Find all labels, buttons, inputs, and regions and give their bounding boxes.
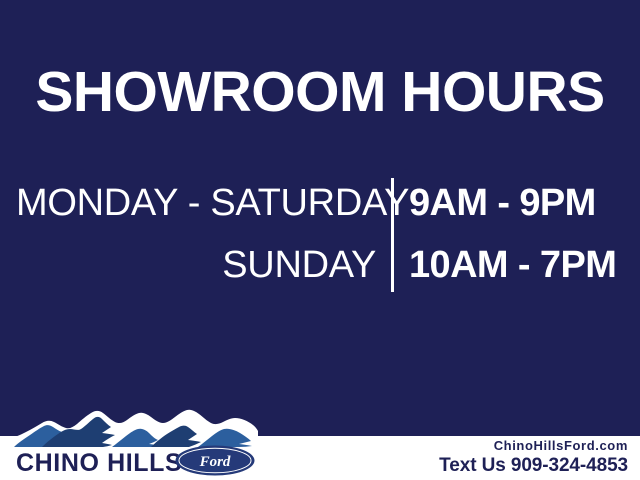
page-title: SHOWROOM HOURS	[0, 62, 640, 122]
showroom-hours-sign: SHOWROOM HOURS MONDAY - SATURDAY 9AM - 9…	[0, 0, 640, 480]
days-label: MONDAY - SATURDAY	[16, 176, 376, 232]
time-value: 9AM - 9PM	[409, 176, 634, 232]
mountain-range-icon	[8, 405, 258, 447]
website-link[interactable]: ChinoHillsFord.com	[439, 437, 628, 454]
contact-info: ChinoHillsFord.com Text Us 909-324-4853	[439, 437, 628, 478]
dealer-name: CHINO HILLS	[16, 449, 182, 477]
ford-wordmark: Ford	[199, 454, 231, 470]
table-row: SUNDAY 10AM - 7PM	[0, 238, 640, 294]
hours-table: MONDAY - SATURDAY 9AM - 9PM SUNDAY 10AM …	[0, 176, 640, 296]
phone-number[interactable]: Text Us 909-324-4853	[439, 454, 628, 478]
ford-logo-icon: Ford	[175, 445, 255, 476]
table-row: MONDAY - SATURDAY 9AM - 9PM	[0, 176, 640, 232]
time-value: 10AM - 7PM	[409, 238, 634, 294]
days-label: SUNDAY	[16, 238, 376, 294]
